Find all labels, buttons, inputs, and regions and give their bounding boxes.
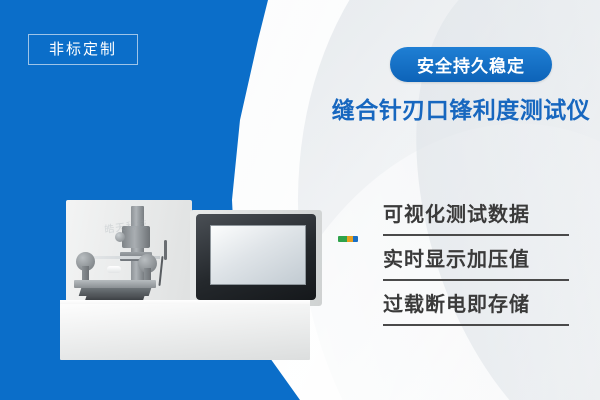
feature-item: 可视化测试数据 (383, 200, 569, 234)
feature-divider (383, 234, 569, 236)
feature-list: 可视化测试数据 实时显示加压值 过载断电即存储 (383, 200, 569, 335)
fixture-sample (107, 266, 121, 273)
feature-divider (383, 279, 569, 281)
machine-base: 缝合针刃口锋利度测试仪 皓天科技 皓天科技 HAOTIAN TECHNOLOGY (60, 304, 310, 360)
slogan-pill: 安全持久稳定 (390, 47, 552, 82)
product-banner: 非标定制 安全持久稳定 缝合针刃口锋利度测试仪 可视化测试数据 实时显示加压值 … (0, 0, 600, 400)
feature-item: 实时显示加压值 (383, 245, 569, 279)
product-headline: 缝合针刃口锋利度测试仪 (330, 91, 592, 125)
fixture-base-plate (74, 280, 156, 288)
screen-brand-logo-icon (338, 236, 358, 242)
nonstandard-custom-badge: 非标定制 (28, 34, 138, 65)
fixture-sensor (164, 240, 167, 260)
feature-item: 过载断电即存储 (383, 290, 569, 324)
touchscreen-display[interactable] (210, 225, 306, 285)
product-machine: 缝合针刃口锋利度测试仪 皓天科技 皓天科技 HAOTIAN TECHNOLOGY… (60, 196, 310, 361)
feature-divider (383, 324, 569, 326)
